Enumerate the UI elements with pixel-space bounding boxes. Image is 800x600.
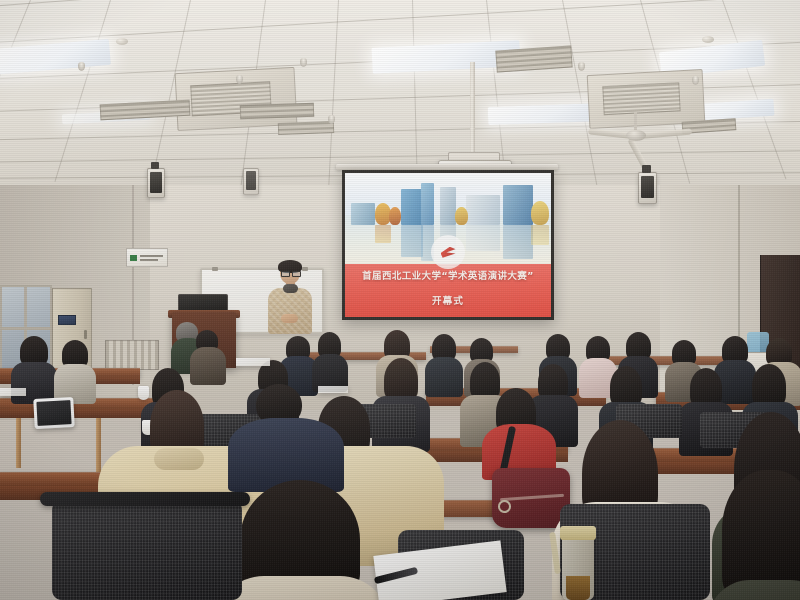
slide-title: 首届西北工业大学“学术英语演讲大赛” <box>345 268 551 282</box>
tablet-on-desk[interactable] <box>33 397 75 429</box>
desk-leg <box>16 418 21 468</box>
slide-reflection <box>503 225 533 259</box>
ceiling-fan-blade <box>640 128 692 139</box>
door-sign <box>58 315 76 325</box>
university-emblem-icon <box>431 235 465 269</box>
slide-building <box>503 185 533 225</box>
smoke-detector-icon <box>702 36 714 43</box>
chair-frame[interactable] <box>40 492 250 506</box>
slide-tree <box>389 207 401 225</box>
attendee-body <box>425 357 463 397</box>
slide-reflection <box>375 225 391 243</box>
tea-bottle-cap[interactable] <box>560 526 596 540</box>
sprinkler-icon <box>78 62 85 71</box>
slide-tree <box>531 201 549 225</box>
tea-leaves <box>566 576 590 600</box>
paper-on-desk <box>236 358 270 366</box>
coat-collar <box>154 448 204 470</box>
presenter-scarf <box>283 284 298 293</box>
desk-leg <box>96 418 101 476</box>
wall-speaker-left <box>147 168 165 198</box>
projector-mount-pole <box>470 62 475 157</box>
attendee-body <box>190 347 226 385</box>
slide-reflection <box>466 225 500 251</box>
wall-radiator <box>105 340 159 370</box>
speaker-bracket <box>642 165 651 173</box>
door-handle[interactable] <box>84 330 87 339</box>
slide-building <box>401 189 423 225</box>
slide-building <box>421 183 434 225</box>
speaker-bracket <box>151 162 159 169</box>
desk-side <box>0 409 158 418</box>
ac-cassette-unit <box>587 69 706 129</box>
wall-notice-plate <box>126 248 168 267</box>
sprinkler-icon <box>236 75 243 84</box>
wall-speaker-right <box>243 168 259 195</box>
ceiling-fan-hub <box>626 130 646 141</box>
slide-subtitle: 开幕式 <box>345 293 551 307</box>
backpack-buckle <box>498 500 511 513</box>
presenter-jacket <box>268 288 312 334</box>
chair[interactable] <box>52 500 242 600</box>
slide-building <box>466 195 500 225</box>
suspended-ceiling <box>0 0 800 185</box>
ceiling-light <box>0 39 111 75</box>
paper-on-desk <box>318 386 348 393</box>
air-vent <box>278 121 334 135</box>
slide-reflection <box>531 225 549 245</box>
glasses-icon <box>281 271 299 275</box>
presenter <box>262 262 316 334</box>
paper-on-desk <box>0 388 26 396</box>
slide-content: 首届西北工业大学“学术英语演讲大赛” 开幕式 <box>345 173 551 317</box>
air-vent <box>495 45 572 72</box>
smoke-detector-icon <box>116 38 128 45</box>
air-vent <box>240 103 314 120</box>
sprinkler-icon <box>300 58 307 67</box>
sprinkler-icon <box>578 62 585 71</box>
slide-tree <box>455 207 468 225</box>
slide-building <box>351 203 375 225</box>
paper-cup <box>138 386 149 400</box>
slide-building <box>440 187 456 225</box>
sprinkler-icon <box>328 115 335 124</box>
sprinkler-icon <box>692 76 699 85</box>
wall-speaker-center <box>638 172 657 204</box>
presenter-hands <box>281 314 298 323</box>
slide-reflection <box>401 225 423 257</box>
projection-screen[interactable]: 首届西北工业大学“学术英语演讲大赛” 开幕式 <box>342 170 554 320</box>
lecture-hall-photo: 首届西北工业大学“学术英语演讲大赛” 开幕式 <box>0 0 800 600</box>
